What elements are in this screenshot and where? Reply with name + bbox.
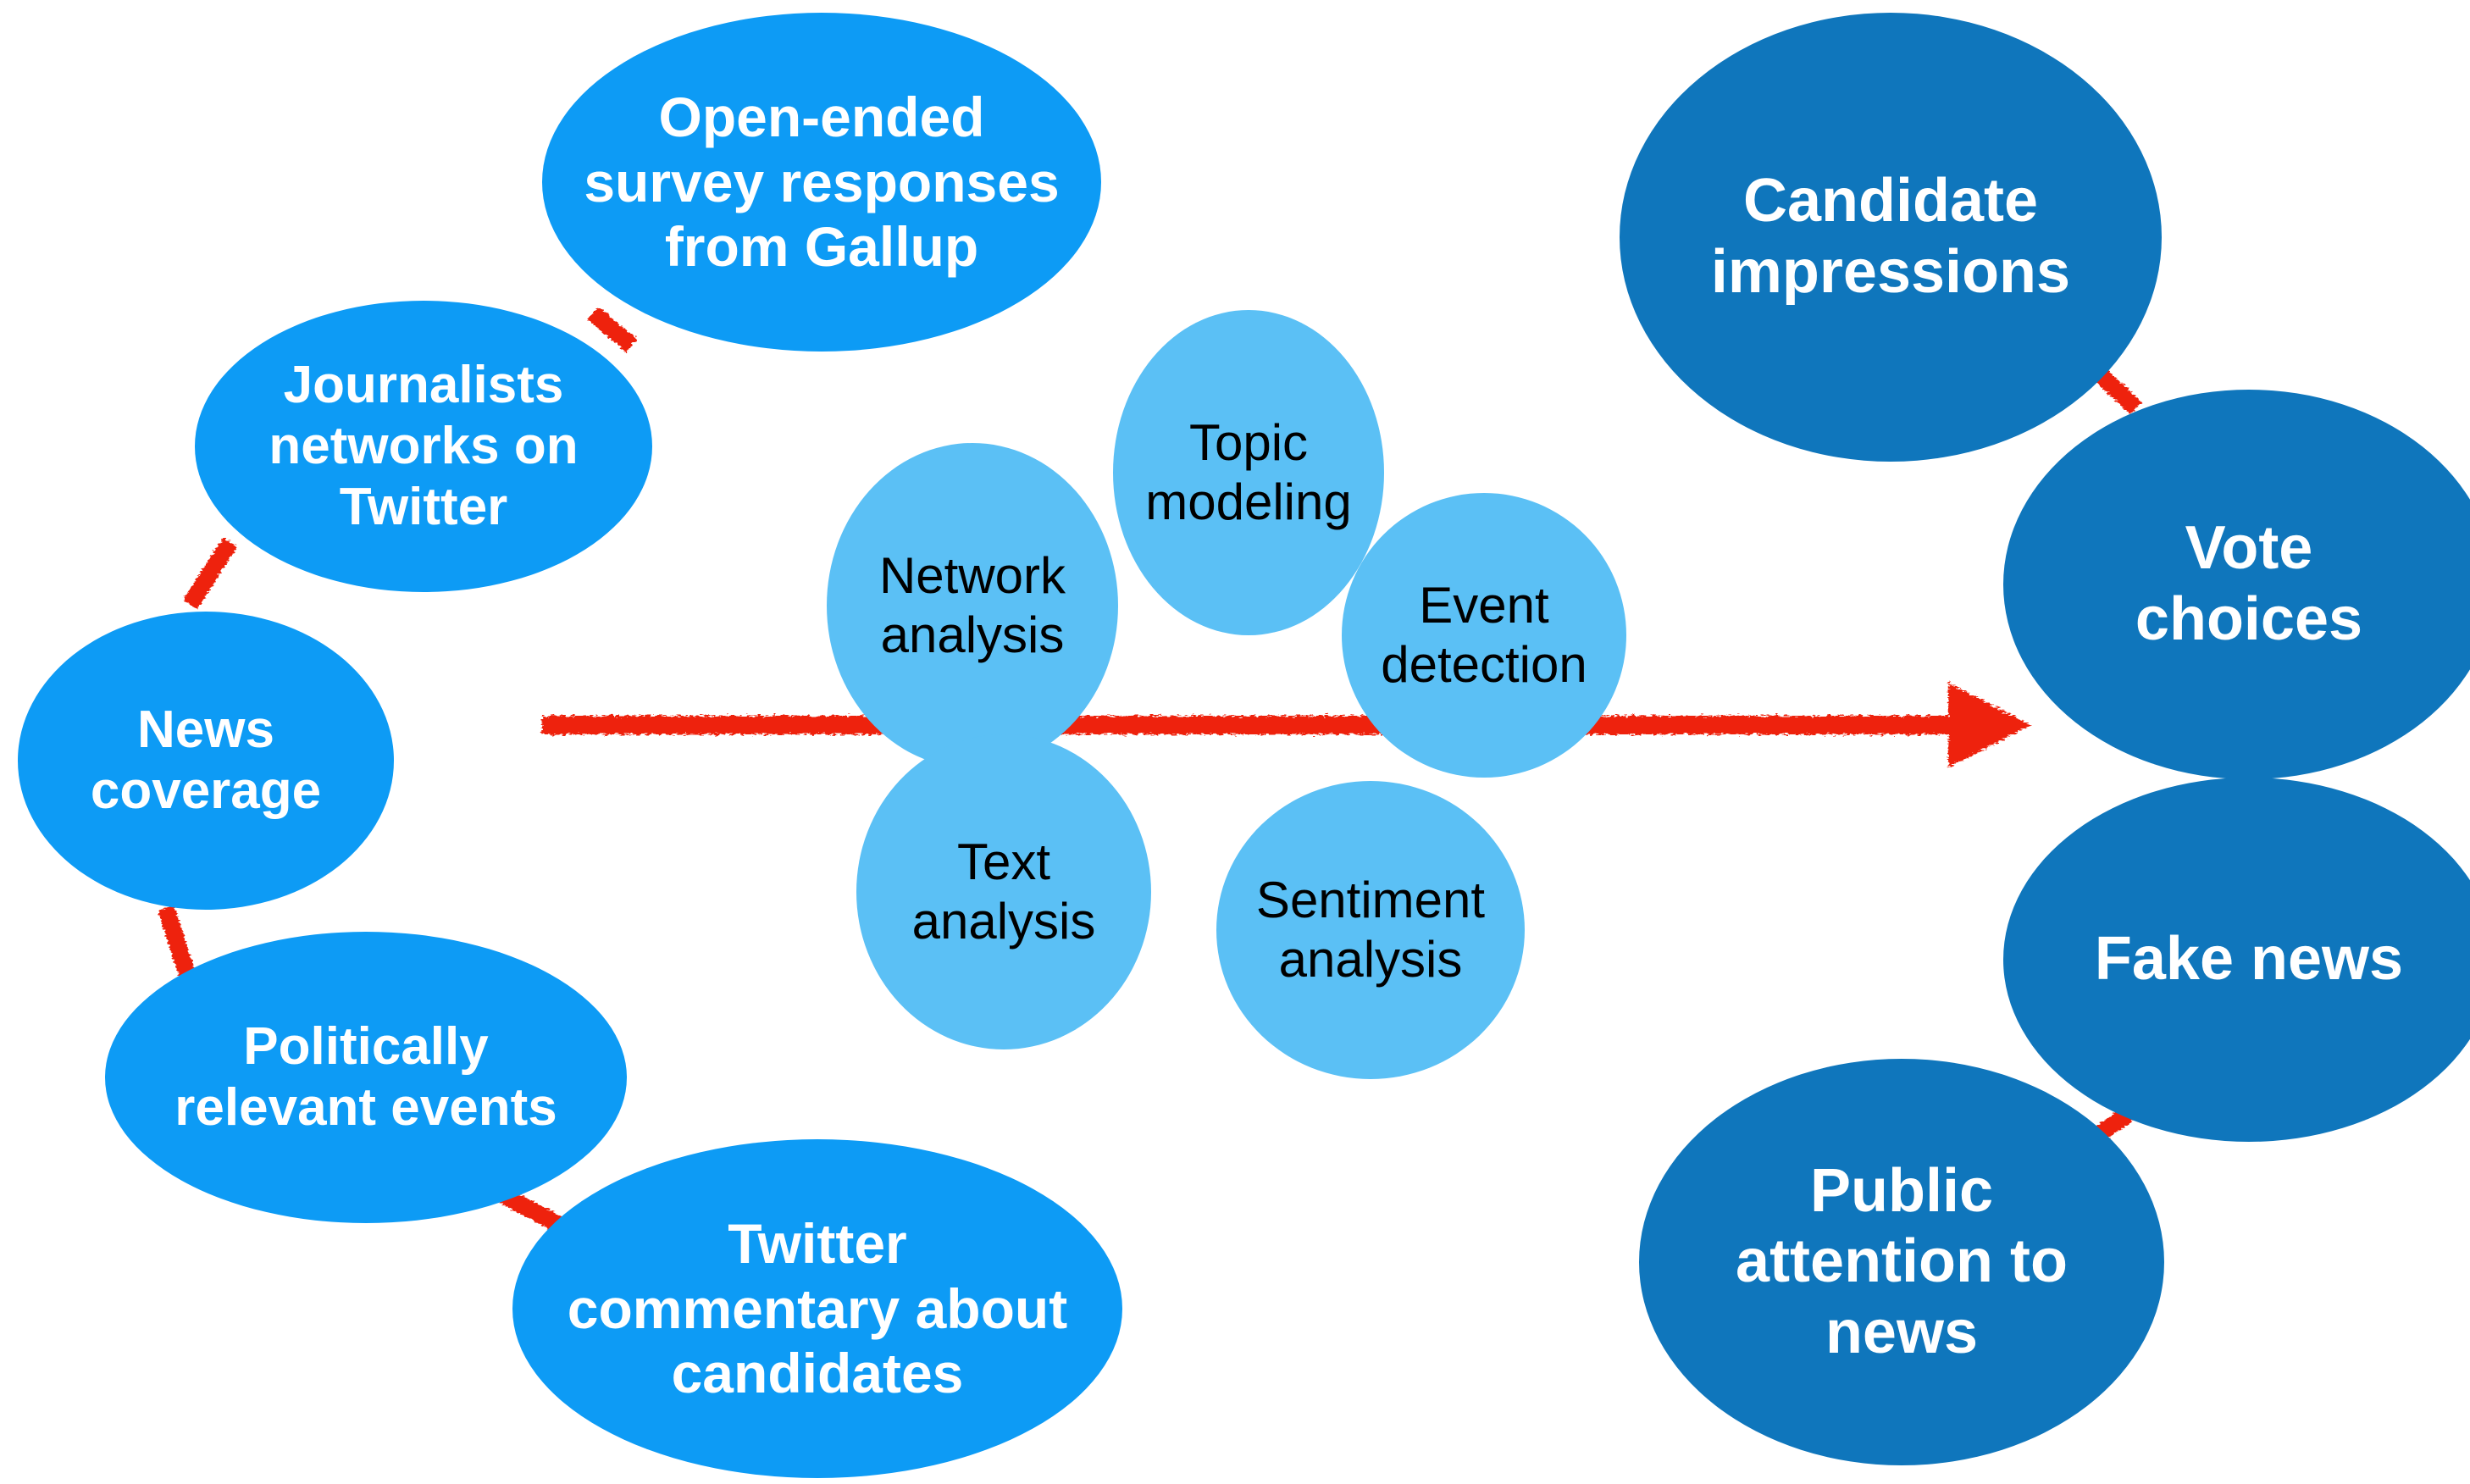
node-label: Topic modeling [1118,413,1379,531]
node-label: Candidate impressions [1625,166,2157,307]
node-label: Vote choices [2008,513,2470,655]
node-label: Sentiment analysis [1221,871,1520,988]
node-event-detection[interactable]: Event detection [1342,493,1626,778]
node-politically-relevant-events[interactable]: Politically relevant events [105,932,627,1223]
node-sentiment-analysis[interactable]: Sentiment analysis [1216,781,1525,1079]
node-layer: Open-ended survey responses from Gallup … [0,0,2470,1484]
node-label: Politically relevant events [110,1016,622,1138]
node-journalists-networks-on-twitter[interactable]: Journalists networks on Twitter [195,301,652,592]
node-label: Network analysis [832,546,1113,664]
node-twitter-commentary-about-candidates[interactable]: Twitter commentary about candidates [512,1139,1122,1478]
diagram-canvas: Open-ended survey responses from Gallup … [0,0,2470,1484]
node-label: Text analysis [861,833,1146,950]
node-label: Event detection [1347,576,1621,694]
node-topic-modeling[interactable]: Topic modeling [1113,310,1384,635]
node-vote-choices[interactable]: Vote choices [2003,390,2470,779]
node-fake-news[interactable]: Fake news [2003,778,2470,1142]
node-label: Public attention to news [1644,1156,2159,1369]
node-label: Twitter commentary about candidates [518,1211,1117,1406]
node-news-coverage[interactable]: News coverage [18,612,394,910]
node-candidate-impressions[interactable]: Candidate impressions [1620,13,2162,462]
node-label: Journalists networks on Twitter [200,355,647,538]
node-network-analysis[interactable]: Network analysis [827,443,1118,768]
node-text-analysis[interactable]: Text analysis [856,734,1151,1049]
node-label: Fake news [2008,924,2470,995]
node-label: Open-ended survey responses from Gallup [547,85,1096,280]
node-open-ended-survey-responses-from-gallup[interactable]: Open-ended survey responses from Gallup [542,13,1101,352]
node-public-attention-to-news[interactable]: Public attention to news [1639,1059,2164,1465]
node-label: News coverage [23,700,389,822]
